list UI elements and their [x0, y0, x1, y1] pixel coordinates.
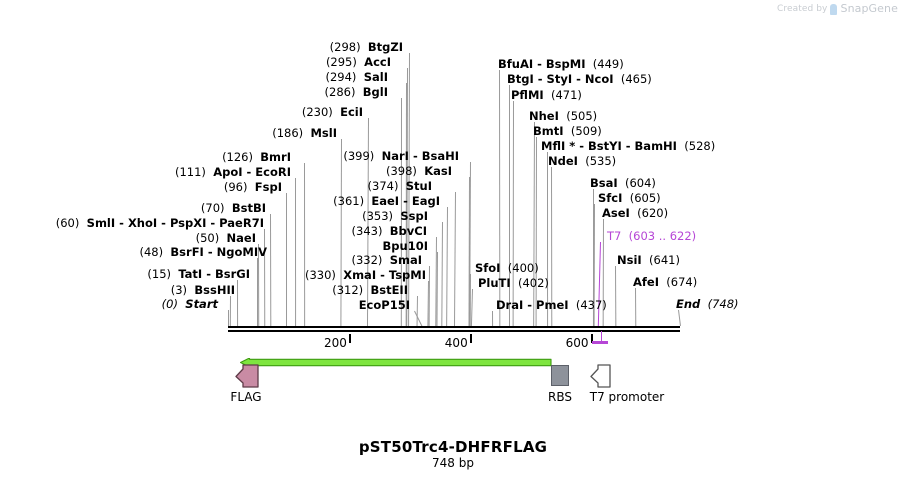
restriction-site-label[interactable]: (332) SmaI: [351, 254, 422, 267]
site-position: (111): [175, 165, 213, 179]
plasmid-title: pST50Trc4-DHFRFLAG: [0, 438, 906, 456]
site-leader-line: [598, 242, 601, 326]
restriction-site-label[interactable]: EcoP15I: [359, 299, 410, 312]
site-position: (0): [162, 297, 186, 311]
site-name: BfuAI - BspMI: [498, 57, 585, 71]
flag-arrow-icon: [234, 364, 260, 388]
site-name: PflMI: [511, 88, 544, 102]
site-name: NarI - BsaHI: [382, 149, 459, 163]
site-name: BsaI: [590, 176, 618, 190]
site-leader-line: [230, 296, 231, 326]
site-position: (298): [330, 40, 368, 54]
restriction-site-label[interactable]: (111) ApoI - EcoRI: [175, 166, 291, 179]
t7-promoter-arrow-icon: [589, 364, 612, 388]
site-name: TatI - BsrGI: [178, 267, 250, 281]
flag-feature-shape: [234, 364, 260, 388]
site-name: NdeI: [548, 154, 578, 168]
site-leader-line: [417, 296, 418, 326]
rbs-feature-shape: [551, 365, 569, 386]
site-leader-line: [414, 311, 422, 326]
site-position: (330): [305, 268, 343, 282]
plasmid-map-canvas: Created by SnapGene (0) Start(3) BssHII(…: [0, 0, 906, 479]
site-position: (126): [222, 150, 260, 164]
site-position: (3): [171, 283, 195, 297]
site-position: (374): [368, 179, 406, 193]
restriction-site-label[interactable]: (294) SalI: [326, 71, 389, 84]
site-position: (449): [585, 57, 623, 71]
site-name: BstEII: [370, 283, 408, 297]
site-position: (48): [140, 245, 171, 259]
site-leader-line: [295, 178, 296, 326]
restriction-site-label[interactable]: (3) BssHII: [171, 284, 235, 297]
ruler-tick: [349, 334, 352, 343]
restriction-site-label[interactable]: PflMI (471): [511, 89, 582, 102]
site-position: (437): [569, 298, 607, 312]
site-leader-line: [454, 192, 456, 326]
restriction-site-label[interactable]: (126) BmrI: [222, 151, 291, 164]
site-name: KasI: [424, 164, 452, 178]
site-position: (604): [618, 176, 656, 190]
site-leader-line: [264, 229, 265, 326]
site-name: SfoI: [475, 261, 500, 275]
restriction-site-label[interactable]: (399) NarI - BsaHI: [343, 150, 459, 163]
site-name: Bpu10I: [383, 239, 428, 253]
site-leader-line: [436, 252, 438, 326]
site-position: (505): [559, 109, 597, 123]
restriction-site-label[interactable]: T7 (603 .. 622): [607, 230, 696, 243]
site-leader-line: [615, 266, 616, 326]
t7-ruler-tick: [601, 331, 602, 343]
orf-arrow: [240, 352, 550, 361]
site-position: (748): [700, 297, 738, 311]
site-position: (400): [500, 261, 538, 275]
site-name: SspI: [400, 209, 428, 223]
restriction-site-label[interactable]: DraI - PmeI (437): [496, 299, 607, 312]
restriction-site-label[interactable]: AseI (620): [602, 207, 668, 220]
site-name: StuI: [406, 179, 432, 193]
site-name: T7: [607, 229, 621, 243]
t7-ruler-highlight: [592, 341, 608, 344]
site-name: SmaI: [390, 253, 422, 267]
restriction-site-label[interactable]: NheI (505): [529, 110, 597, 123]
orf-arrow-icon: [240, 358, 552, 367]
site-name: SfcI: [598, 191, 622, 205]
restriction-site-label[interactable]: BtgI - StyI - NcoI (465): [507, 73, 652, 86]
restriction-site-label[interactable]: (96) FspI: [224, 181, 282, 194]
site-name: BglI: [363, 85, 388, 99]
site-position: (620): [630, 206, 668, 220]
site-position: (96): [224, 180, 255, 194]
restriction-site-label[interactable]: (50) NaeI: [196, 232, 256, 245]
flag-feature-label: FLAG: [230, 390, 261, 404]
site-position: (50): [196, 231, 227, 245]
restriction-site-label[interactable]: (230) EciI: [302, 106, 363, 119]
site-leader-line: [340, 139, 342, 326]
dna-strand-top: [228, 326, 680, 328]
t7-promoter-feature-shape: [589, 364, 612, 388]
site-name: BmtI: [533, 124, 564, 138]
site-name: BtgI - StyI - NcoI: [507, 72, 614, 86]
snapgene-logo-icon: [830, 4, 837, 15]
restriction-site-label[interactable]: AfeI (674): [633, 276, 697, 289]
site-position: (605): [622, 191, 660, 205]
site-name: MslI: [310, 126, 337, 140]
restriction-site-label[interactable]: BmtI (509): [533, 125, 602, 138]
site-name: Start: [185, 297, 218, 311]
watermark-brand: SnapGene: [840, 2, 898, 15]
site-name: NsiI: [617, 253, 642, 267]
site-position: (295): [326, 55, 364, 69]
dna-strand-bottom: [228, 330, 680, 332]
site-name: EcoP15I: [359, 298, 410, 312]
ruler-tick: [470, 334, 473, 343]
site-name: NheI: [529, 109, 559, 123]
site-name: End: [676, 297, 700, 311]
site-position: (399): [343, 149, 381, 163]
restriction-site-label[interactable]: NdeI (535): [548, 155, 616, 168]
restriction-site-label[interactable]: SfcI (605): [598, 192, 661, 205]
site-leader-line: [429, 266, 430, 326]
site-position: (528): [677, 139, 715, 153]
site-leader-line: [492, 311, 493, 326]
ruler-tick-label: 400: [445, 336, 468, 350]
site-name: BsrFI - NgoMIV: [170, 245, 267, 259]
site-position: (60): [56, 216, 87, 230]
site-name: NaeI: [227, 231, 256, 245]
watermark-created-by: Created by: [777, 4, 828, 14]
restriction-site-label[interactable]: BfuAI - BspMI (449): [498, 58, 624, 71]
site-position: (471): [544, 88, 582, 102]
site-leader-line: [471, 289, 473, 326]
site-name: AfeI: [633, 275, 659, 289]
site-position: (535): [578, 154, 616, 168]
restriction-site-label[interactable]: (343) BbvCI: [352, 225, 427, 238]
site-position: (402): [511, 276, 549, 290]
site-name: EaeI - EagI: [371, 194, 440, 208]
site-leader-line: [446, 207, 448, 326]
restriction-site-label[interactable]: NsiI (641): [617, 254, 680, 267]
site-position: (603 .. 622): [621, 229, 696, 243]
site-position: (332): [351, 253, 389, 267]
site-name: AseI: [602, 206, 630, 220]
dna-backbone: [228, 326, 680, 332]
site-name: BstBI: [232, 201, 266, 215]
site-leader-line: [304, 163, 305, 326]
site-name: BbvCI: [390, 224, 427, 238]
restriction-site-label[interactable]: (48) BsrFI - NgoMIV: [140, 246, 268, 259]
restriction-site-label[interactable]: (60) SmlI - XhoI - PspXI - PaeR7I: [56, 217, 264, 230]
restriction-site-label[interactable]: BsaI (604): [590, 177, 656, 190]
ruler-tick-label: 200: [324, 336, 347, 350]
restriction-site-label[interactable]: (312) BstEII: [332, 284, 408, 297]
restriction-site-label[interactable]: (374) StuI: [368, 180, 432, 193]
restriction-site-label[interactable]: SfoI (400): [475, 262, 539, 275]
site-leader-line: [635, 288, 636, 326]
restriction-site-label[interactable]: Bpu10I: [383, 240, 428, 253]
site-name: ApoI - EcoRI: [213, 165, 291, 179]
restriction-site-label[interactable]: (186) MslI: [272, 127, 337, 140]
t7-promoter-feature-label: T7 promoter: [590, 390, 664, 404]
restriction-site-label[interactable]: (353) SspI: [362, 210, 428, 223]
site-leader-line: [513, 101, 514, 326]
site-leader-line: [286, 193, 287, 326]
site-name: EciI: [340, 105, 363, 119]
site-name: SmlI - XhoI - PspXI - PaeR7I: [87, 216, 264, 230]
site-position: (353): [362, 209, 400, 223]
site-position: (465): [614, 72, 652, 86]
site-name: SalI: [364, 70, 388, 84]
site-name: MflI * - BstYI - BamHI: [541, 139, 677, 153]
restriction-site-label[interactable]: (330) XmaI - TspMI: [305, 269, 426, 282]
site-position: (398): [386, 164, 424, 178]
site-position: (286): [325, 85, 363, 99]
site-leader-line: [678, 310, 681, 326]
site-position: (343): [352, 224, 390, 238]
restriction-site-label[interactable]: End (748): [676, 298, 739, 311]
site-name: DraI - PmeI: [496, 298, 569, 312]
ruler-tick-label: 600: [566, 336, 589, 350]
site-leader-line: [441, 222, 443, 326]
site-position: (15): [147, 267, 178, 281]
site-position: (674): [659, 275, 697, 289]
restriction-site-label[interactable]: (70) BstBI: [201, 202, 266, 215]
site-position: (312): [332, 283, 370, 297]
site-name: AccI: [364, 55, 391, 69]
restriction-site-label[interactable]: (0) Start: [162, 298, 218, 311]
restriction-site-label[interactable]: (295) AccI: [326, 56, 391, 69]
restriction-site-label[interactable]: (286) BglI: [325, 86, 388, 99]
site-name: BssHII: [194, 283, 235, 297]
site-position: (230): [302, 105, 340, 119]
site-name: BmrI: [260, 150, 291, 164]
restriction-site-label[interactable]: (361) EaeI - EagI: [333, 195, 440, 208]
site-name: FspI: [255, 180, 282, 194]
restriction-site-label[interactable]: (15) TatI - BsrGI: [147, 268, 250, 281]
restriction-site-label[interactable]: (298) BtgZI: [330, 41, 403, 54]
site-name: XmaI - TspMI: [343, 268, 426, 282]
restriction-site-label[interactable]: (398) KasI: [386, 165, 452, 178]
site-leader-line: [237, 280, 238, 326]
site-position: (509): [564, 124, 602, 138]
site-name: BtgZI: [368, 40, 403, 54]
rbs-feature-label: RBS: [548, 390, 572, 404]
site-position: (186): [272, 126, 310, 140]
site-position: (361): [333, 194, 371, 208]
site-leader-line: [270, 214, 271, 326]
restriction-site-label[interactable]: MflI * - BstYI - BamHI (528): [541, 140, 715, 153]
restriction-site-label[interactable]: PluTI (402): [478, 277, 549, 290]
site-position: (70): [201, 201, 232, 215]
plasmid-length: 748 bp: [0, 456, 906, 470]
site-position: (294): [326, 70, 364, 84]
site-position: (641): [642, 253, 680, 267]
snapgene-watermark: Created by SnapGene: [777, 2, 898, 15]
site-name: PluTI: [478, 276, 511, 290]
